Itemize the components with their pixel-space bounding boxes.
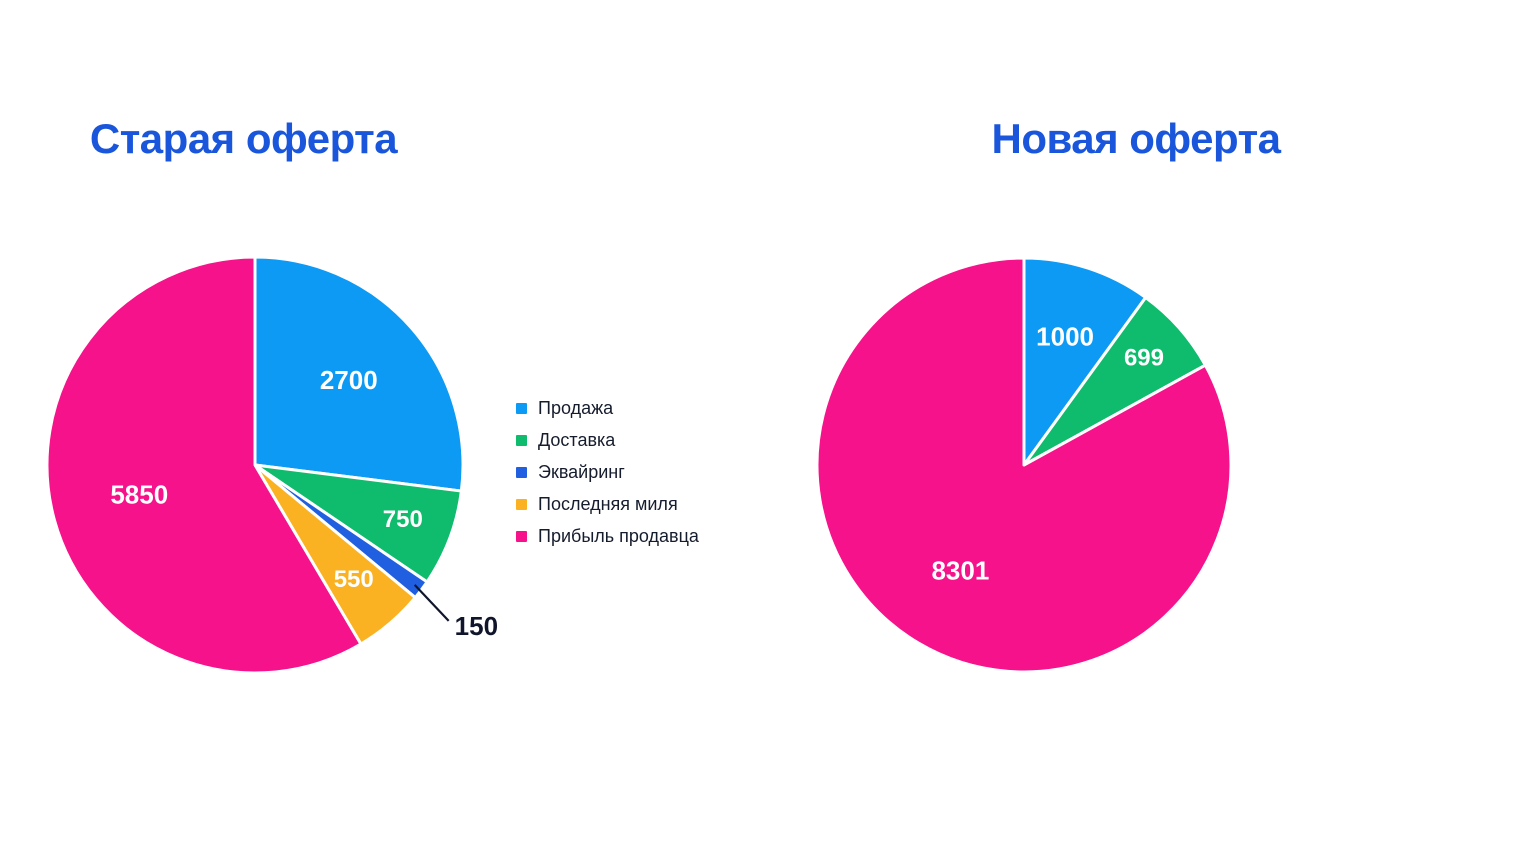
legend-swatch-icon: [516, 435, 527, 446]
pie-slice-value-label: 550: [334, 566, 374, 593]
legend-swatch-icon: [516, 403, 527, 414]
callout-leader-line: [415, 585, 449, 621]
pie-svg-new-offer: 10006998301: [817, 258, 1231, 672]
pie-slice-value-label: 5850: [110, 480, 168, 510]
pie-chart-old-offer: 27007501505505850: [47, 257, 463, 673]
pie-chart-new-offer: 10006998301: [817, 258, 1231, 672]
slide-canvas: Старая оферта 27007501505505850 ПродажаД…: [0, 0, 1515, 852]
pie-slice-value-label-callout: 150: [455, 611, 498, 641]
pie-slices: [817, 258, 1231, 672]
pie-slice-value-label: 699: [1124, 344, 1164, 371]
legend-item-label: Последняя миля: [538, 495, 678, 513]
pie-slices: [47, 257, 463, 673]
legend-swatch-icon: [516, 499, 527, 510]
pie-slice-value-label: 1000: [1036, 321, 1094, 351]
legend-item[interactable]: Доставка: [516, 424, 699, 456]
legend-old-offer: ПродажаДоставкаЭквайрингПоследняя миляПр…: [516, 392, 699, 552]
legend-swatch-icon: [516, 467, 527, 478]
pie-slice-value-label: 8301: [931, 555, 989, 585]
legend-item[interactable]: Продажа: [516, 392, 699, 424]
chart-panel-new-offer: Новая оферта 10006998301 ПродажаДоставка…: [757, 0, 1515, 852]
legend-item[interactable]: Последняя миля: [516, 488, 699, 520]
pie-slice-value-label: 2700: [320, 365, 378, 395]
page-title-old-offer: Старая оферта: [0, 115, 622, 163]
pie-svg-old-offer: 27007501505505850: [47, 257, 487, 677]
legend-item-label: Продажа: [538, 399, 613, 417]
legend-swatch-icon: [516, 531, 527, 542]
pie-slice-value-label: 750: [383, 506, 423, 533]
page-title-new-offer: Новая оферта: [757, 115, 1515, 163]
legend-item[interactable]: Эквайринг: [516, 456, 699, 488]
legend-item-label: Прибыль продавца: [538, 527, 699, 545]
chart-panel-old-offer: Старая оферта 27007501505505850 ПродажаД…: [0, 0, 757, 852]
legend-item-label: Эквайринг: [538, 463, 625, 481]
legend-item-label: Доставка: [538, 431, 615, 449]
legend-item[interactable]: Прибыль продавца: [516, 520, 699, 552]
